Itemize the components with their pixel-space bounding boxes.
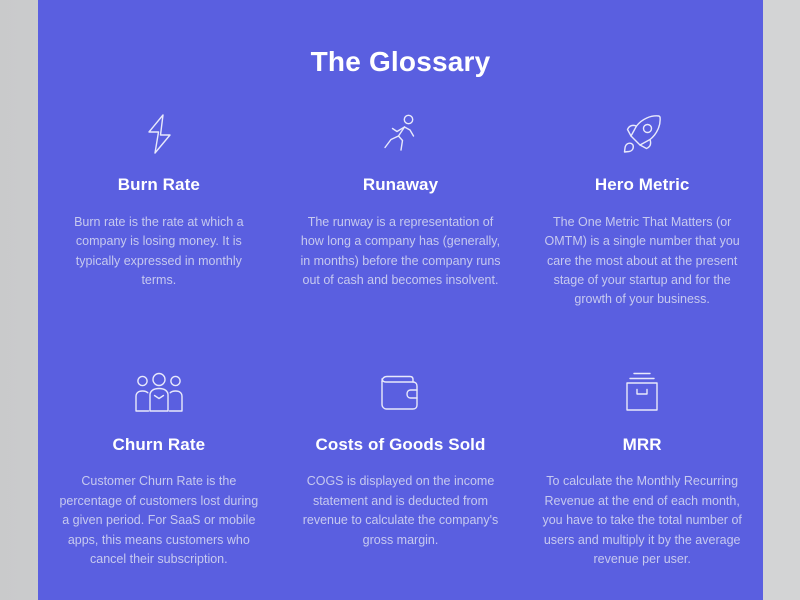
glossary-card-hero-metric: Hero Metric The One Metric That Matters … [521, 108, 763, 310]
glossary-card-burn-rate: Burn Rate Burn rate is the rate at which… [38, 108, 280, 310]
glossary-panel: The Glossary Burn Rate Burn rate is the … [38, 0, 763, 600]
card-title: Burn Rate [118, 174, 200, 196]
glossary-grid-row-1: Burn Rate Burn rate is the rate at which… [38, 108, 763, 324]
card-body: The One Metric That Matters (or OMTM) is… [541, 213, 743, 310]
glossary-card-churn-rate: Churn Rate Customer Churn Rate is the pe… [38, 366, 280, 570]
wallet-icon [377, 366, 423, 418]
card-title: MRR [623, 434, 662, 456]
lightning-bolt-icon [139, 108, 179, 160]
card-title: Runaway [363, 174, 438, 196]
card-body: COGS is displayed on the income statemen… [300, 472, 502, 550]
running-person-icon [377, 108, 423, 160]
card-body: The runway is a representation of how lo… [300, 213, 502, 291]
card-title: Hero Metric [595, 174, 690, 196]
card-body: Burn rate is the rate at which a company… [58, 213, 260, 291]
page-title: The Glossary [38, 46, 763, 78]
card-body: Customer Churn Rate is the percentage of… [58, 472, 260, 569]
card-title: Costs of Goods Sold [315, 434, 485, 456]
glossary-grid-row-2: Churn Rate Customer Churn Rate is the pe… [38, 366, 763, 584]
group-people-icon [133, 366, 185, 418]
glossary-card-runaway: Runaway The runway is a representation o… [280, 108, 522, 310]
rocket-icon [618, 108, 666, 160]
page-root: The Glossary Burn Rate Burn rate is the … [0, 0, 800, 600]
glossary-card-costs-of-goods-sold: Costs of Goods Sold COGS is displayed on… [280, 366, 522, 570]
card-title: Churn Rate [113, 434, 206, 456]
archive-box-icon [620, 366, 664, 418]
glossary-card-mrr: MRR To calculate the Monthly Recurring R… [521, 366, 763, 570]
card-body: To calculate the Monthly Recurring Reven… [541, 472, 743, 569]
